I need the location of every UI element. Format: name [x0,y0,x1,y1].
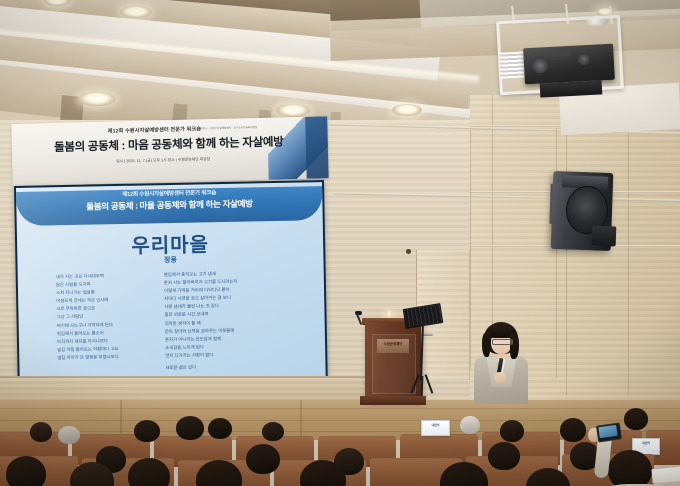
audience-head [624,408,648,430]
audience-head [246,444,280,474]
audience-head [58,426,80,444]
poem-last-line: 새로운 삶은 있다 [165,365,196,372]
name-card: 내빈석 [421,420,450,436]
projector [523,44,615,85]
audience-head [488,442,520,470]
banner-meta: 일시 | 2025. 11. 7.(금) 오후 1시 장소 | 수원문화재단 대… [38,155,288,166]
presenter-hair-left [482,333,490,357]
pa-speaker-bracket [592,226,617,247]
wall-seam [556,128,557,378]
audience-head [134,420,160,442]
audience-head [208,418,232,439]
event-banner: 수원시 · 수원시자살예방센터 · 경기도수원교육지원청 제12회 수원시자살예… [11,116,328,186]
glasses-icon [492,339,513,345]
lectern-plate-text: 수원문화재단 [377,341,409,346]
audience-head [262,422,284,441]
audience-head [30,422,52,442]
projection-screen: 제12회 수원시자살예방센터 전문가 워크숍 돌봄의 공동체 : 마을 공동체와… [14,180,328,384]
poem-column-right: 열집에서 풍겨오는 고기 냄새혼자 사는 할아버지가 고기를 드시려는지이렇게 … [164,269,296,361]
poem-line: 옆집 아이가 또 말썽을 부렸나보다 [57,352,173,362]
audience-head [6,456,46,486]
wall-sensor-icon [406,249,411,254]
presentation-slide: 제12회 수원시자살예방센터 전문가 워크숍 돌봄의 공동체 : 마을 공동체와… [16,182,326,382]
audience-head [460,416,480,434]
audience-head [608,450,652,486]
presenter-hand [494,372,506,383]
poem-line: 먼저 다가가는 사람이 없다 [165,350,295,361]
auditorium-photo: 수원시 · 수원시자살예방센터 · 경기도수원교육지원청 제12회 수원시자살예… [0,0,680,486]
presenter-hair-right [510,333,519,359]
audience-head [560,418,586,442]
audience-area: 내빈석 내빈석 내빈 내빈 [0,398,680,486]
audience-head [500,420,524,442]
handout-paper [651,467,680,484]
audience-head [176,416,204,440]
poem-column-left: 내가 사는 곳은 다세대주택많은 사람들 오가며스쳐 지나가는 얼굴들어설프게 … [56,271,174,362]
